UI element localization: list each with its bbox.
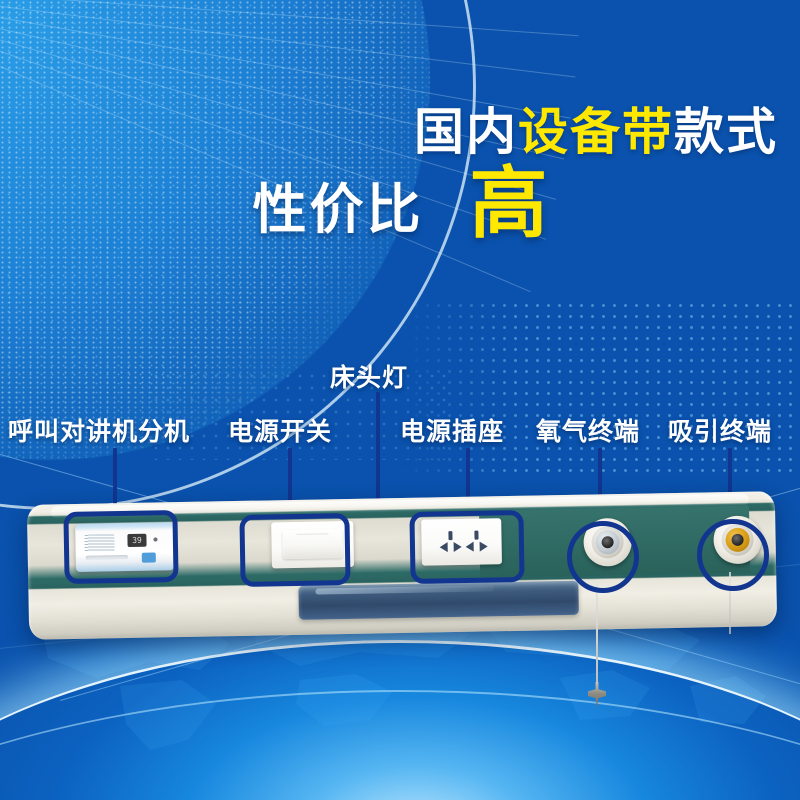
bed-lamp-diffuser bbox=[298, 581, 579, 620]
headline-block: 国内设备带款式 性价比 高 bbox=[0, 0, 800, 260]
highlight-power-outlet bbox=[409, 510, 524, 584]
highlight-power-switch bbox=[239, 513, 350, 587]
headline-line-1: 国内设备带款式 bbox=[0, 92, 778, 164]
headline-line-2: 性价比 高 bbox=[0, 165, 800, 244]
highlight-oxygen bbox=[567, 521, 639, 593]
highlight-intercom bbox=[63, 510, 178, 584]
pull-cord bbox=[596, 582, 598, 694]
headline-seg-2: 设备带 bbox=[518, 103, 674, 161]
highlight-suction bbox=[697, 519, 769, 591]
headline-value-phrase: 性价比 bbox=[252, 165, 423, 244]
callout-label-power-outlet: 电源插座 bbox=[400, 412, 504, 448]
product-banner: 国内设备带款式 性价比 高 呼叫对讲机分机电源开关床头灯电源插座氧气终端吸引终端… bbox=[0, 0, 800, 800]
callout-label-power-switch: 电源开关 bbox=[228, 412, 332, 448]
headline-emphasis-char: 高 bbox=[469, 167, 547, 241]
callout-label-bed-lamp: 床头灯 bbox=[330, 358, 408, 394]
callout-label-intercom: 呼叫对讲机分机 bbox=[8, 412, 190, 448]
headline-seg-1: 国内 bbox=[414, 103, 518, 161]
callout-label-oxygen: 氧气终端 bbox=[536, 412, 640, 448]
callout-label-suction: 吸引终端 bbox=[668, 412, 772, 448]
headline-seg-3: 款式 bbox=[674, 103, 778, 161]
